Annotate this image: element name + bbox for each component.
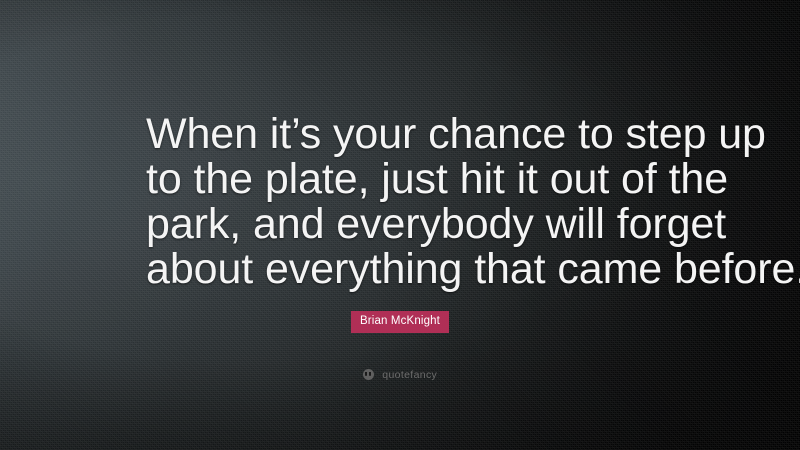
brand-watermark[interactable]: quotefancy xyxy=(0,366,800,384)
quote-content: When it’s your chance to step up to the … xyxy=(0,0,800,450)
quote-line-4: about everything that came before. xyxy=(146,247,670,292)
quote-mark-circle-icon xyxy=(363,369,374,380)
author-attribution: Brian McKnight xyxy=(0,311,800,333)
quote-text-block: When it’s your chance to step up to the … xyxy=(146,112,670,292)
quote-image-canvas: When it’s your chance to step up to the … xyxy=(0,0,800,450)
quote-line-1: When it’s your chance to step up xyxy=(146,112,670,157)
quote-line-2: to the plate, just hit it out of the xyxy=(146,157,670,202)
brand-name-label: quotefancy xyxy=(382,369,437,381)
quote-line-3: park, and everybody will forget xyxy=(146,202,670,247)
author-name-badge[interactable]: Brian McKnight xyxy=(351,311,449,333)
